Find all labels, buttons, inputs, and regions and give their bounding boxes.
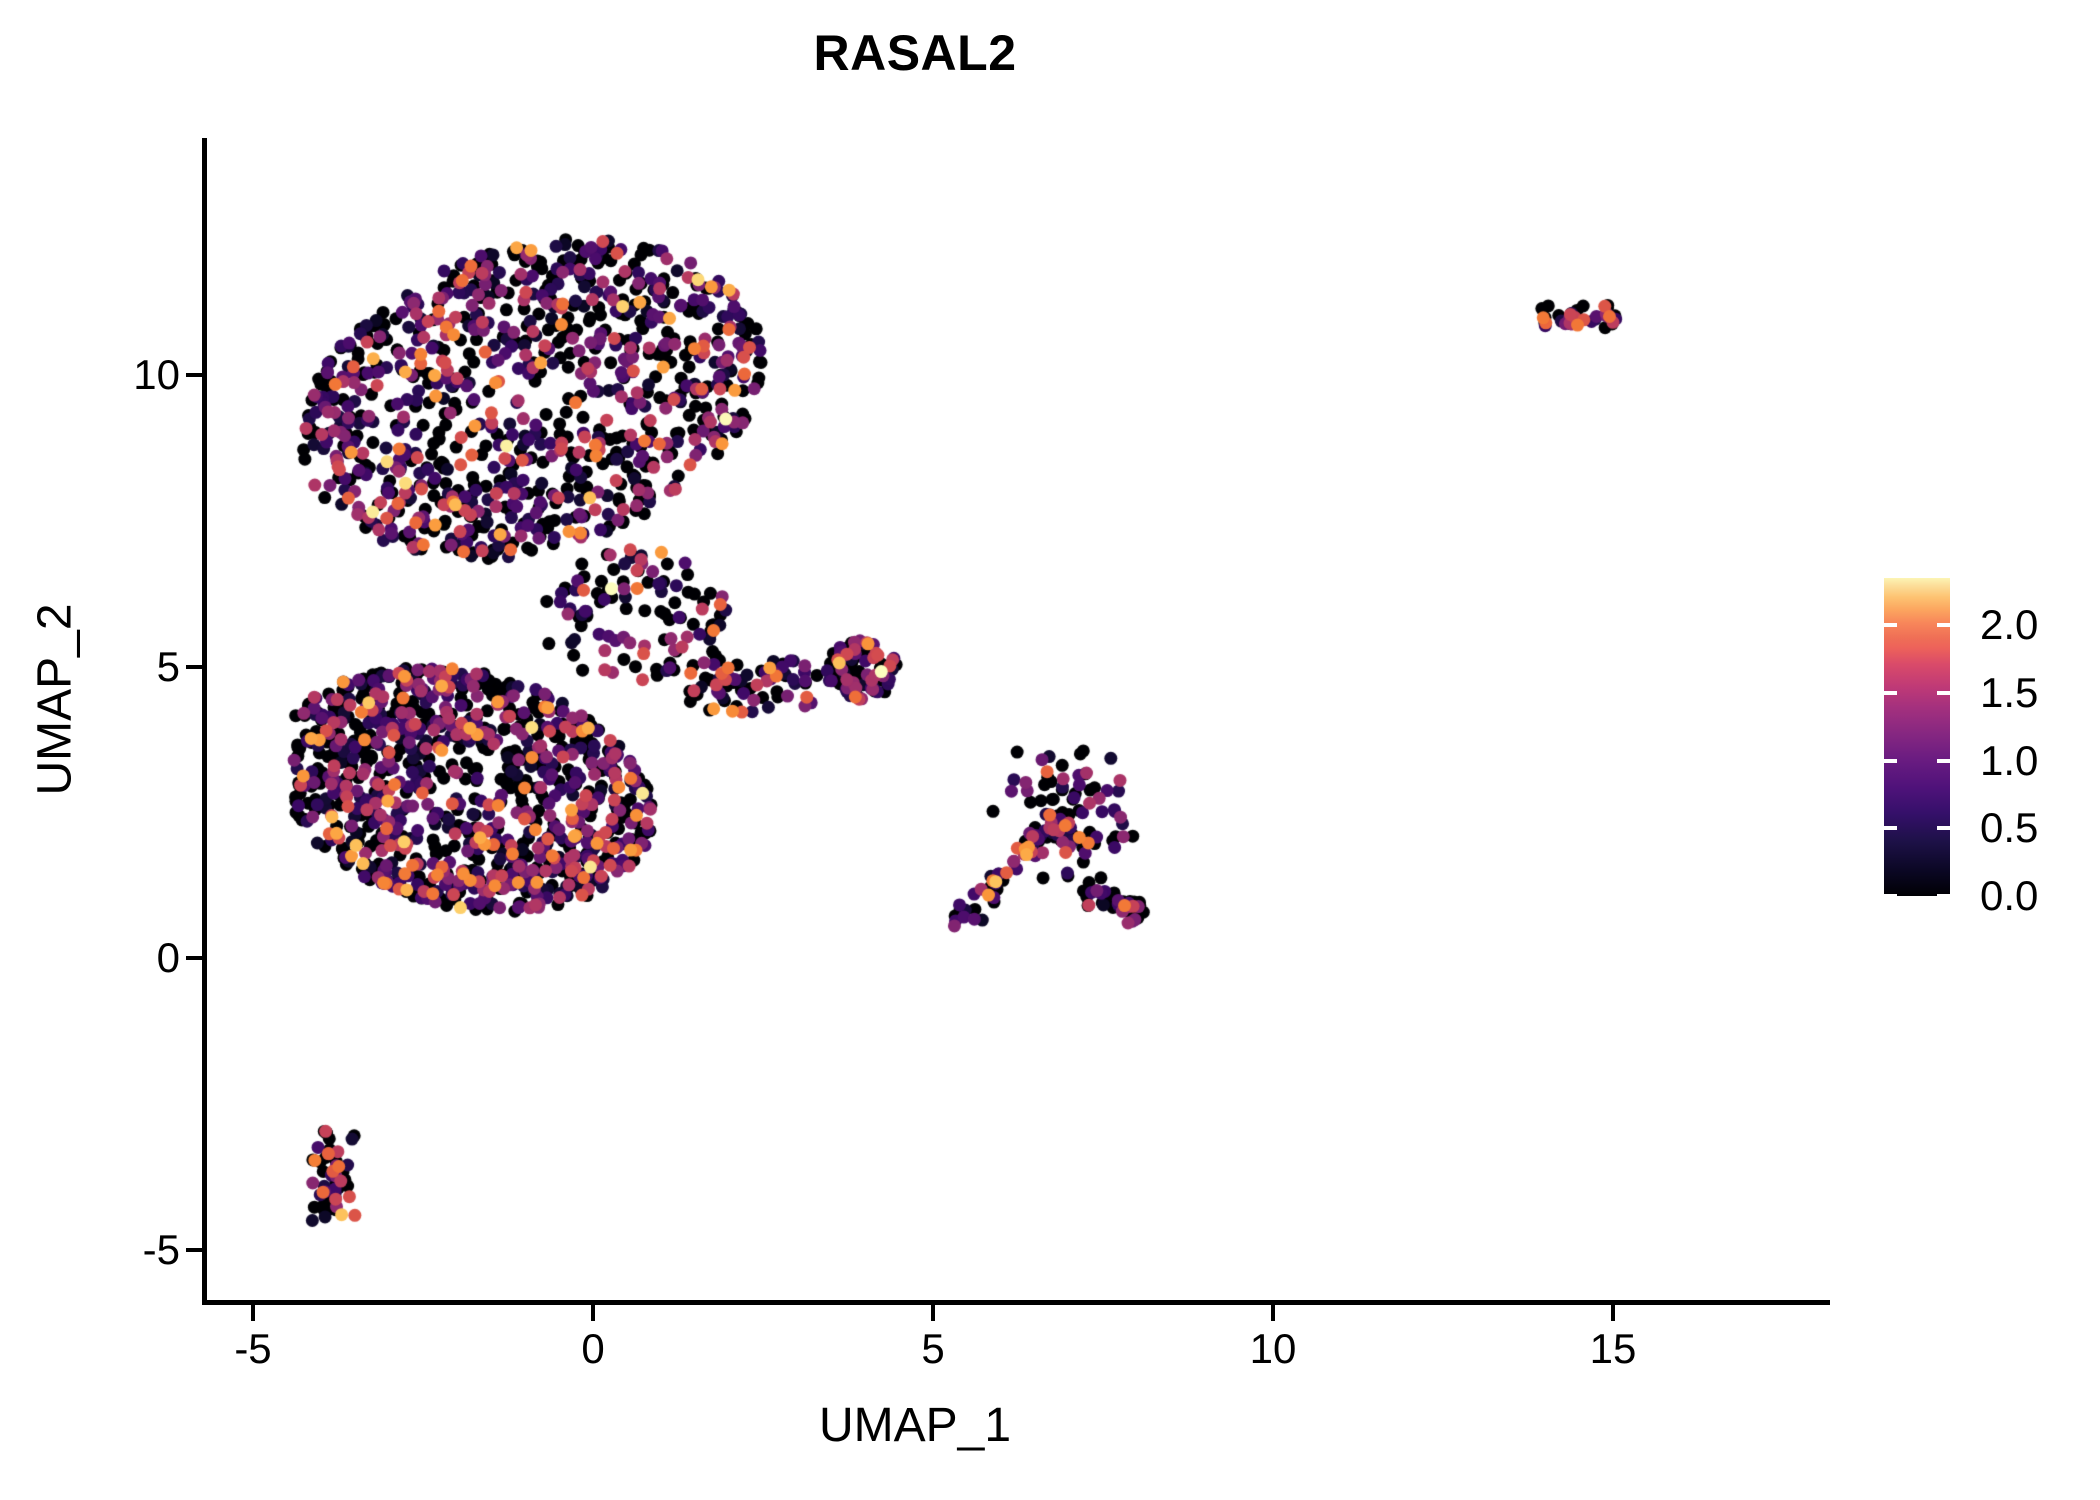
x-tick-mark <box>931 1305 935 1321</box>
y-tick-mark <box>186 956 202 960</box>
colorbar-tick-mark <box>1884 759 1897 763</box>
colorbar-legend: 0.00.51.01.52.0 <box>1884 578 2084 898</box>
chart-root: RASAL2 -50510 -5051015 UMAP_1 UMAP_2 0.0… <box>0 0 2100 1500</box>
x-tick-label: 15 <box>1533 1328 1693 1370</box>
x-axis-line <box>202 1300 1830 1305</box>
x-tick-label: -5 <box>173 1328 333 1370</box>
x-tick-label: 0 <box>513 1328 673 1370</box>
colorbar-tick-label: 0.5 <box>1980 807 2038 849</box>
scatter-points-layer <box>206 138 1830 1303</box>
x-tick-label: 5 <box>853 1328 1013 1370</box>
x-axis-title: UMAP_1 <box>0 1398 1830 1453</box>
y-tick-mark <box>186 665 202 669</box>
page-title: RASAL2 <box>0 24 1830 82</box>
colorbar-tick-mark <box>1937 691 1950 695</box>
y-tick-mark <box>186 1248 202 1252</box>
colorbar-tick-label: 1.0 <box>1980 740 2038 782</box>
y-axis-line <box>202 138 207 1305</box>
colorbar-tick-label: 1.5 <box>1980 672 2038 714</box>
x-tick-mark <box>1271 1305 1275 1321</box>
colorbar-tick-mark <box>1884 826 1897 830</box>
colorbar-tick-label: 2.0 <box>1980 604 2038 646</box>
colorbar-tick-mark <box>1884 623 1897 627</box>
x-tick-label: 10 <box>1193 1328 1353 1370</box>
colorbar-tick-label: 0.0 <box>1980 875 2038 917</box>
colorbar-tick-mark <box>1884 894 1897 898</box>
y-tick-mark <box>186 373 202 377</box>
scatter-plot-panel <box>206 138 1830 1303</box>
colorbar-tick-mark <box>1884 691 1897 695</box>
y-axis-title: UMAP_2 <box>28 400 83 1000</box>
colorbar-tick-mark <box>1937 894 1950 898</box>
x-tick-mark <box>591 1305 595 1321</box>
y-tick-label: -5 <box>60 1229 180 1271</box>
colorbar-tick-mark <box>1937 759 1950 763</box>
colorbar-tick-mark <box>1937 623 1950 627</box>
x-tick-mark <box>251 1305 255 1321</box>
x-tick-mark <box>1611 1305 1615 1321</box>
colorbar-tick-mark <box>1937 826 1950 830</box>
y-tick-label: 10 <box>60 354 180 396</box>
